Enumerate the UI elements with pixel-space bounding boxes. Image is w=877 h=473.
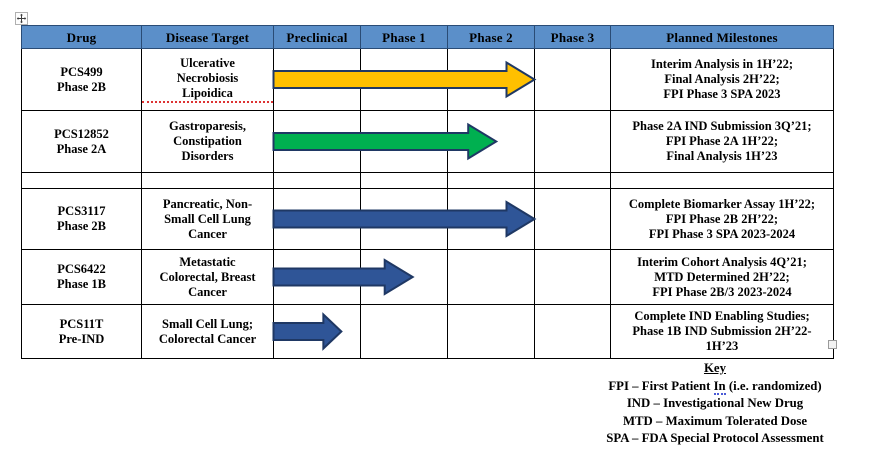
milestone-line: Final Analysis 1H’23 xyxy=(611,149,833,164)
lane-phase-3-row-4 xyxy=(535,250,611,305)
target-line: Colorectal Cancer xyxy=(142,332,273,347)
column-header-drug: Drug xyxy=(22,26,142,49)
milestone-line: Phase 1B IND Submission 2H’22- xyxy=(611,324,833,339)
milestone-line: FPI Phase 2B/3 2023-2024 xyxy=(611,285,833,300)
target-line: Pancreatic, Non- xyxy=(142,197,273,212)
spacer-cell xyxy=(611,173,834,189)
milestone-line: FPI Phase 2B 2H’22; xyxy=(611,212,833,227)
drug-phase: Pre-IND xyxy=(22,332,141,347)
milestone-line: FPI Phase 3 SPA 2023-2024 xyxy=(611,227,833,242)
lane-phase-1-row-3 xyxy=(361,189,448,250)
key-title: Key xyxy=(560,360,870,378)
cell-drug: PCS499 Phase 2B xyxy=(22,49,142,111)
lane-phase-2-row-3 xyxy=(448,189,535,250)
cell-disease-target: Gastroparesis, Constipation Disorders xyxy=(142,111,274,173)
milestone-line: Final Analysis 2H’22; xyxy=(611,72,833,87)
column-header-disease-target: Disease Target xyxy=(142,26,274,49)
spacer-cell xyxy=(22,173,142,189)
target-line: Necrobiosis xyxy=(142,71,273,86)
key-line-fpi: FPI – First Patient In (i.e. randomized) xyxy=(560,378,870,396)
table-row: PCS11T Pre-IND Small Cell Lung; Colorect… xyxy=(22,305,834,359)
drug-name: PCS3117 xyxy=(22,204,141,219)
milestone-line: FPI Phase 3 SPA 2023 xyxy=(611,87,833,102)
table-header-row: Drug Disease Target Preclinical Phase 1 … xyxy=(22,26,834,49)
lane-phase-3-row-2 xyxy=(535,111,611,173)
cell-disease-target: Pancreatic, Non- Small Cell Lung Cancer xyxy=(142,189,274,250)
lane-phase-1-row-4 xyxy=(361,250,448,305)
cell-drug: PCS12852 Phase 2A xyxy=(22,111,142,173)
cell-milestones: Phase 2A IND Submission 3Q’21; FPI Phase… xyxy=(611,111,834,173)
key-line-ind: IND – Investigational New Drug xyxy=(560,395,870,413)
column-header-phase-2: Phase 2 xyxy=(448,26,535,49)
lane-phase-2-row-4 xyxy=(448,250,535,305)
target-line: Colorectal, Breast xyxy=(142,270,273,285)
column-header-planned-milestones: Planned Milestones xyxy=(611,26,834,49)
target-line: Constipation xyxy=(142,134,273,149)
table-row: PCS12852 Phase 2A Gastroparesis, Constip… xyxy=(22,111,834,173)
table-move-handle[interactable] xyxy=(15,12,28,25)
cell-disease-target: Metastatic Colorectal, Breast Cancer xyxy=(142,250,274,305)
cell-milestones: Complete IND Enabling Studies; Phase 1B … xyxy=(611,305,834,359)
target-line: Small Cell Lung xyxy=(142,212,273,227)
move-cross-icon xyxy=(16,13,27,24)
lane-preclinical-row-4 xyxy=(274,250,361,305)
table-row: PCS3117 Phase 2B Pancreatic, Non- Small … xyxy=(22,189,834,250)
cell-drug: PCS3117 Phase 2B xyxy=(22,189,142,250)
column-header-phase-1: Phase 1 xyxy=(361,26,448,49)
lane-phase-2-row-2 xyxy=(448,111,535,173)
milestone-line: Complete IND Enabling Studies; xyxy=(611,309,833,324)
drug-phase: Phase 2B xyxy=(22,80,141,95)
target-line: Ulcerative xyxy=(142,56,273,71)
column-header-preclinical: Preclinical xyxy=(274,26,361,49)
target-line: Disorders xyxy=(142,149,273,164)
drug-name: PCS6422 xyxy=(22,262,141,277)
table-spacer-row xyxy=(22,173,834,189)
cell-disease-target: Small Cell Lung; Colorectal Cancer xyxy=(142,305,274,359)
table-row: PCS6422 Phase 1B Metastatic Colorectal, … xyxy=(22,250,834,305)
drug-name: PCS499 xyxy=(22,65,141,80)
table-row: PCS499 Phase 2B Ulcerative Necrobiosis L… xyxy=(22,49,834,111)
lane-phase-2-row-5 xyxy=(448,305,535,359)
drug-phase: Phase 2A xyxy=(22,142,141,157)
spacer-cell xyxy=(274,173,361,189)
milestone-line: FPI Phase 2A 1H’22; xyxy=(611,134,833,149)
milestone-line: Interim Analysis in 1H’22; xyxy=(611,57,833,72)
pipeline-table: Drug Disease Target Preclinical Phase 1 … xyxy=(21,25,834,359)
milestone-line: Interim Cohort Analysis 4Q’21; xyxy=(611,255,833,270)
cell-drug: PCS11T Pre-IND xyxy=(22,305,142,359)
spacer-cell xyxy=(448,173,535,189)
lane-preclinical-row-1 xyxy=(274,49,361,111)
cell-milestones: Interim Analysis in 1H’22; Final Analysi… xyxy=(611,49,834,111)
drug-phase: Phase 2B xyxy=(22,219,141,234)
key-line-spa: SPA – FDA Special Protocol Assessment xyxy=(560,430,870,448)
target-line: Metastatic xyxy=(142,255,273,270)
lane-phase-1-row-1 xyxy=(361,49,448,111)
cell-drug: PCS6422 Phase 1B xyxy=(22,250,142,305)
lane-phase-1-row-5 xyxy=(361,305,448,359)
drug-name: PCS11T xyxy=(22,317,141,332)
lane-phase-3-row-3 xyxy=(535,189,611,250)
key-legend: Key FPI – First Patient In (i.e. randomi… xyxy=(560,360,870,448)
cell-milestones: Complete Biomarker Assay 1H’22; FPI Phas… xyxy=(611,189,834,250)
lane-preclinical-row-2 xyxy=(274,111,361,173)
key-line-mtd: MTD – Maximum Tolerated Dose xyxy=(560,413,870,431)
milestone-line: MTD Determined 2H’22; xyxy=(611,270,833,285)
milestone-line: 1H’23 xyxy=(611,339,833,354)
cell-disease-target: Ulcerative Necrobiosis Lipoidica xyxy=(142,49,274,111)
target-line: Small Cell Lung; xyxy=(142,317,273,332)
table-resize-handle[interactable] xyxy=(828,340,837,349)
lane-phase-3-row-5 xyxy=(535,305,611,359)
column-header-phase-3: Phase 3 xyxy=(535,26,611,49)
spacer-cell xyxy=(361,173,448,189)
lane-phase-3-row-1 xyxy=(535,49,611,111)
lane-phase-1-row-2 xyxy=(361,111,448,173)
lane-preclinical-row-3 xyxy=(274,189,361,250)
target-line: Gastroparesis, xyxy=(142,119,273,134)
milestone-line: Complete Biomarker Assay 1H’22; xyxy=(611,197,833,212)
target-line-misspelled: Lipoidica xyxy=(142,86,273,103)
target-line: Cancer xyxy=(142,227,273,242)
cell-milestones: Interim Cohort Analysis 4Q’21; MTD Deter… xyxy=(611,250,834,305)
spacer-cell xyxy=(535,173,611,189)
drug-name: PCS12852 xyxy=(22,127,141,142)
milestone-line: Phase 2A IND Submission 3Q’21; xyxy=(611,119,833,134)
lane-phase-2-row-1 xyxy=(448,49,535,111)
lane-preclinical-row-5 xyxy=(274,305,361,359)
drug-phase: Phase 1B xyxy=(22,277,141,292)
target-line: Cancer xyxy=(142,285,273,300)
spacer-cell xyxy=(142,173,274,189)
